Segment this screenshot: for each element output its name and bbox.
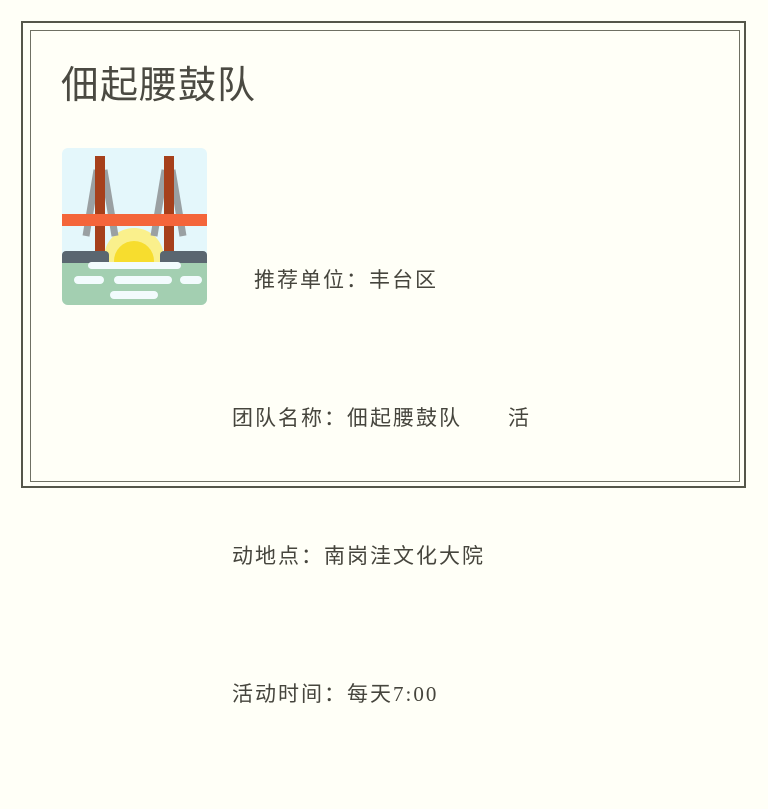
detail-line-recommending-unit: 推荐单位：丰台区: [232, 257, 632, 303]
bridge-sunset-illustration-icon: [62, 148, 207, 305]
detail-line-activity-time: 活动时间：每天7:00: [232, 671, 632, 717]
page-title: 佃起腰鼓队: [61, 62, 256, 110]
page-root: 佃起腰鼓队: [0, 0, 768, 510]
page-content: 佃起腰鼓队: [0, 0, 768, 510]
activity-details: 推荐单位：丰台区 团队名称：佃起腰鼓队 活 动地点：南岗洼文化大院 活动时间：每…: [232, 165, 632, 809]
detail-line-activity-location: 动地点：南岗洼文化大院: [232, 533, 632, 579]
detail-line-team-name: 团队名称：佃起腰鼓队 活: [232, 395, 632, 441]
